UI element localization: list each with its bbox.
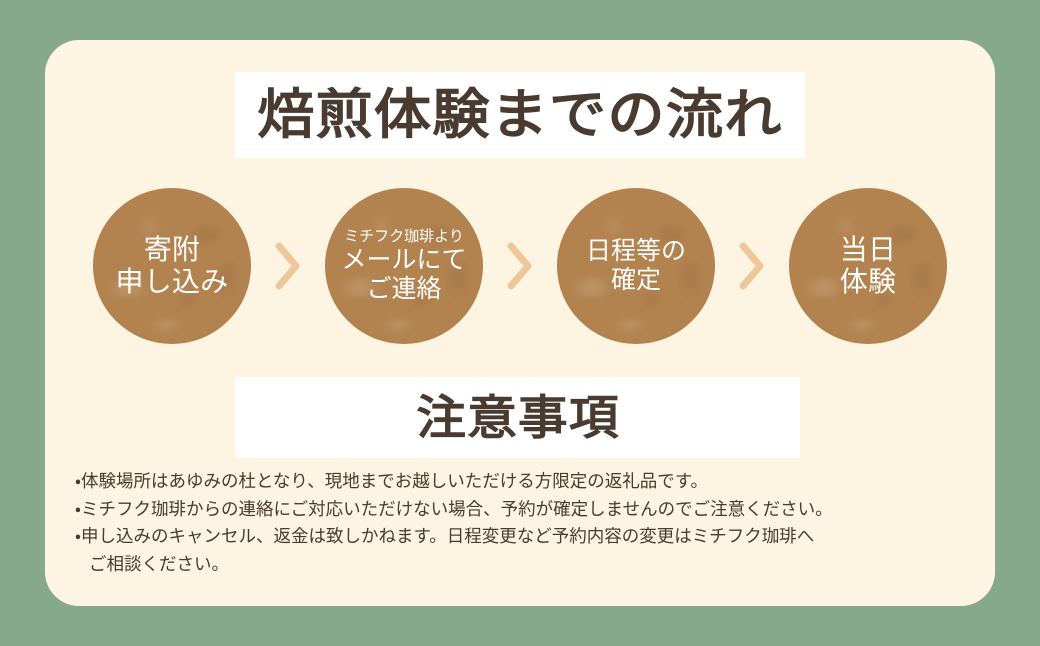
chevron-right-icon	[505, 240, 535, 292]
notes-title-band: 注意事項	[235, 377, 800, 458]
flow-step-label: 日程等の 確定	[580, 237, 692, 295]
flow-step-label: 当日 体験	[834, 234, 903, 299]
note-line-continuation: ご相談ください。	[75, 551, 975, 579]
flow-step-line-2: 体験	[840, 266, 897, 298]
note-line: ・ミチフク珈琲からの連絡にご対応いただけない場合、予約が確定しませんのでご注意く…	[75, 496, 975, 524]
flow-title-band: 焙煎体験までの流れ	[235, 72, 805, 158]
notes-list: ・体験場所はあゆみの杜となり、現地までお越しいただける方限定の返礼品です。 ・ミ…	[75, 468, 975, 579]
flow-step-schedule-confirm: 日程等の 確定	[557, 188, 715, 344]
flow-step-email-contact: ミチフク珈琲より メールにて ご連絡	[325, 188, 483, 344]
flow-step-label: 寄附 申し込み	[109, 234, 234, 299]
flow-step-line-1: メールにて	[341, 246, 466, 275]
flow-step-line-2: 申し込み	[115, 266, 228, 298]
chevron-right-icon	[737, 240, 767, 292]
chevron-right-icon	[273, 240, 303, 292]
flow-step-application: 寄附 申し込み	[93, 188, 251, 344]
note-line: ・体験場所はあゆみの杜となり、現地までお越しいただける方限定の返礼品です。	[75, 468, 975, 496]
flow-step-label: ミチフク珈琲より メールにて ご連絡	[335, 228, 472, 304]
poster-stage: 焙煎体験までの流れ 寄附 申し込み ミチフク珈琲より メールにて	[0, 0, 1040, 646]
flow-step-line-1: 日程等の	[586, 237, 686, 266]
flow-step-line-1: 当日	[840, 234, 897, 266]
content-card: 焙煎体験までの流れ 寄附 申し込み ミチフク珈琲より メールにて	[45, 40, 995, 606]
flow-steps-row: 寄附 申し込み ミチフク珈琲より メールにて ご連絡	[93, 186, 947, 346]
flow-step-line-2: ご連絡	[341, 275, 466, 304]
note-line: ・申し込みのキャンセル、返金は致しかねます。日程変更など予約内容の変更はミチフク…	[75, 523, 975, 551]
flow-title: 焙煎体験までの流れ	[257, 88, 782, 142]
flow-step-subline: ミチフク珈琲より	[341, 228, 466, 245]
notes-title: 注意事項	[416, 394, 619, 441]
flow-step-line-2: 確定	[586, 266, 686, 295]
flow-step-line-1: 寄附	[115, 234, 228, 266]
flow-step-experience-day: 当日 体験	[789, 188, 947, 344]
